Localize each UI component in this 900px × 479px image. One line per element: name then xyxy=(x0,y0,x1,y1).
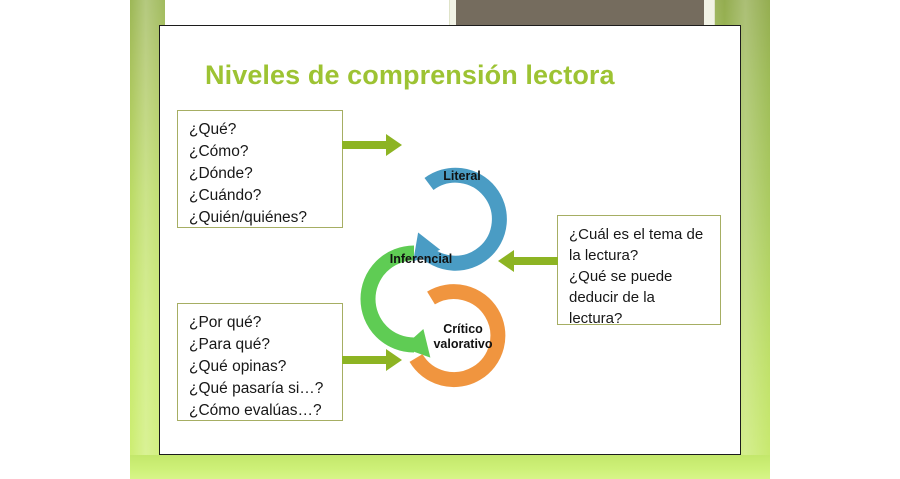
question-line: ¿Por qué? xyxy=(189,312,332,334)
question-line: ¿Qué pasaría si…? xyxy=(189,378,332,400)
question-line: ¿Dónde? xyxy=(189,163,332,185)
cycle-label-inferencial: Inferencial xyxy=(373,252,469,267)
questions-box-inferencial: ¿Cuál es el tema de la lectura? ¿Qué se … xyxy=(557,215,721,325)
arrow-right-to-literal-icon xyxy=(342,134,402,156)
question-line: ¿Qué se puede deducir de la lectura? xyxy=(569,266,710,329)
cycle-label-critico-line2: valorativo xyxy=(418,337,508,352)
question-line: ¿Para qué? xyxy=(189,334,332,356)
cycle-label-critico-line1: Crítico xyxy=(418,322,508,337)
question-line: ¿Qué opinas? xyxy=(189,356,332,378)
question-line: ¿Cómo evalúas…? xyxy=(189,400,332,422)
questions-box-critico: ¿Por qué? ¿Para qué? ¿Qué opinas? ¿Qué p… xyxy=(177,303,343,421)
question-line: ¿Quién/quiénes? xyxy=(189,207,332,229)
arrow-left-to-inferencial-icon xyxy=(498,250,558,272)
cycle-label-critico: Crítico valorativo xyxy=(418,322,508,352)
question-line: ¿Cuándo? xyxy=(189,185,332,207)
page-title: Niveles de comprensión lectora xyxy=(205,60,705,91)
questions-box-literal: ¿Qué? ¿Cómo? ¿Dónde? ¿Cuándo? ¿Quién/qui… xyxy=(177,110,343,228)
decorative-bottom-green-band xyxy=(130,455,770,479)
question-line: ¿Cómo? xyxy=(189,141,332,163)
question-line: ¿Qué? xyxy=(189,119,332,141)
question-line: ¿Cuál es el tema de la lectura? xyxy=(569,224,710,266)
arrow-right-to-critico-icon xyxy=(342,349,402,371)
slide-stage: Niveles de comprensión lectora ¿Qué? ¿Có… xyxy=(0,0,900,479)
cycle-label-literal: Literal xyxy=(417,169,507,184)
